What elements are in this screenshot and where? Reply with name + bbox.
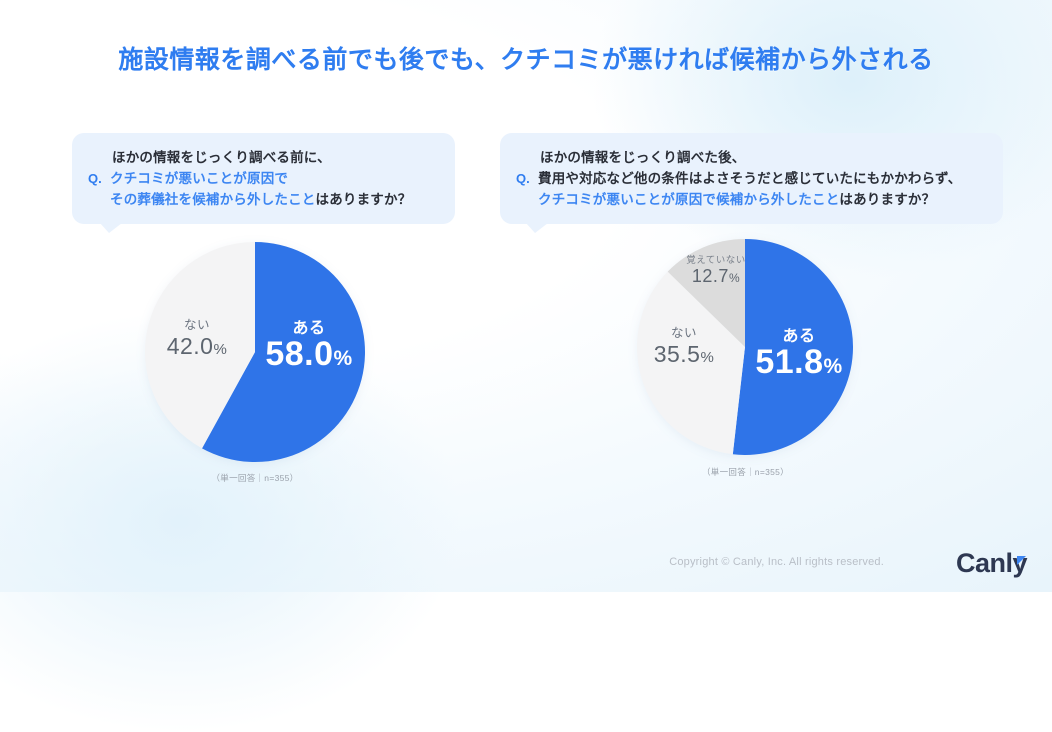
question-right-line-3-blue: クチコミが悪いことが原因で候補から外したこと (538, 192, 839, 207)
copyright-text: Copyright © Canly, Inc. All rights reser… (669, 556, 884, 568)
question-right-line-3: クチコミが悪いことが原因で候補から外したことはありますか？ (538, 189, 985, 210)
question-left-line-3-blue: その葬儀社を候補から外したこと (110, 192, 316, 207)
question-right-marker: Q. (516, 168, 538, 189)
question-bubble-right: ほかの情報をじっくり調べた後、 Q. 費用や対応など他の条件はよさそうだと感じて… (500, 133, 1003, 224)
question-left-line-3: その葬儀社を候補から外したことはありますか？ (110, 189, 437, 210)
slide-background: 施設情報を調べる前でも後でも、クチコミが悪ければ候補から外される ほかの情報をじ… (0, 0, 1052, 592)
canly-logo: Canly (956, 550, 1027, 577)
question-left-marker: Q. (88, 168, 110, 189)
question-right-line-3-dark: はありますか？ (839, 192, 935, 207)
question-bubble-left: ほかの情報をじっくり調べる前に、 Q. クチコミが悪いことが原因で その葬儀社を… (72, 133, 455, 224)
question-right-line-1: ほかの情報をじっくり調べた後、 (540, 147, 985, 168)
pie-chart-left-svg (135, 232, 375, 472)
canly-logo-text: Canl (956, 548, 1013, 578)
pie-slice-ある (733, 239, 853, 455)
pie-left-note: （単一回答｜n=355） (135, 472, 375, 484)
question-left-line-3-dark: はありますか？ (316, 192, 412, 207)
pie-chart-right-svg (628, 230, 863, 465)
page-title: 施設情報を調べる前でも後でも、クチコミが悪ければ候補から外される (0, 40, 1052, 76)
canly-logo-y: y (1012, 550, 1027, 577)
pie-right-note: （単一回答｜n=355） (628, 466, 863, 478)
question-left-line-1: ほかの情報をじっくり調べる前に、 (112, 147, 437, 168)
question-left-line-2: クチコミが悪いことが原因で (110, 168, 437, 189)
pie-chart-right: 覚えていない 12.7% ない 35.5% ある 51.8% （単一回答｜n=3… (628, 230, 863, 465)
pie-chart-left: ない 42.0% ある 58.0% （単一回答｜n=355） (135, 232, 375, 472)
canly-logo-accent-icon (1017, 556, 1026, 565)
question-right-line-2: 費用や対応など他の条件はよさそうだと感じていたにもかかわらず、 (538, 168, 985, 189)
